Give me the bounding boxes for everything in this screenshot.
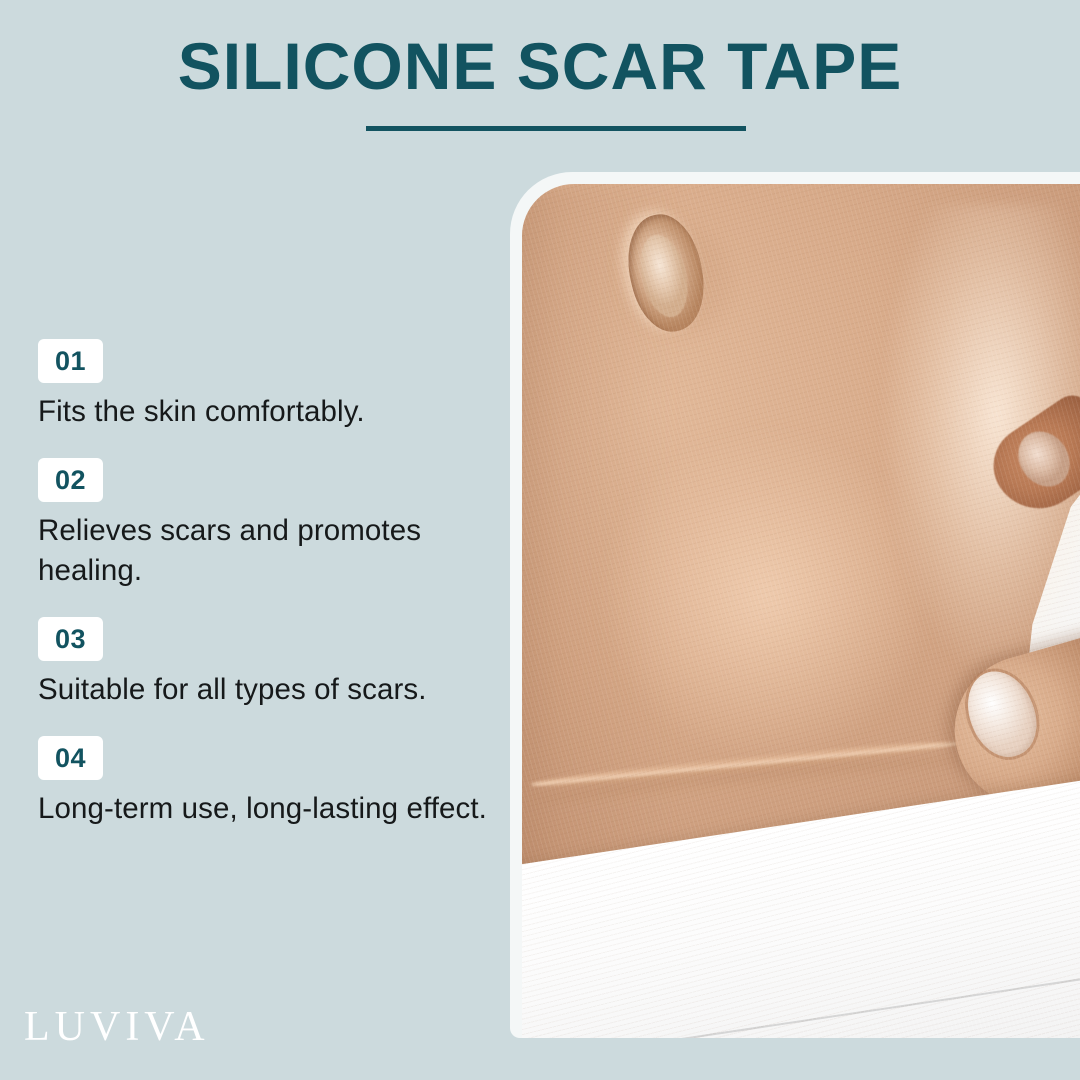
feature-text-01: Fits the skin comfortably.: [38, 392, 488, 432]
feature-number-badge-02: 02: [38, 458, 103, 502]
feature-number-badge-04: 04: [38, 736, 103, 780]
feature-item-02: 02 Relieves scars and promotes healing.: [38, 458, 488, 591]
product-infographic: SILICONE SCAR TAPE 01 Fits the skin comf…: [0, 0, 1080, 1080]
product-photo: [522, 184, 1080, 1038]
feature-text-03: Suitable for all types of scars.: [38, 670, 488, 710]
feature-text-04: Long-term use, long-lasting effect.: [38, 789, 488, 829]
feature-list: 01 Fits the skin comfortably. 02 Relieve…: [38, 339, 488, 829]
page-title: SILICONE SCAR TAPE: [0, 24, 1080, 108]
feature-number-badge-03: 03: [38, 617, 103, 661]
feature-text-02: Relieves scars and promotes healing.: [38, 511, 488, 591]
product-photo-panel: [510, 172, 1080, 1038]
feature-item-04: 04 Long-term use, long-lasting effect.: [38, 736, 488, 829]
feature-number-badge-01: 01: [38, 339, 103, 383]
title-underline-rule: [366, 126, 746, 131]
feature-item-01: 01 Fits the skin comfortably.: [38, 339, 488, 432]
feature-item-03: 03 Suitable for all types of scars.: [38, 617, 488, 710]
brand-logo: LUVIVA: [24, 1004, 210, 1050]
